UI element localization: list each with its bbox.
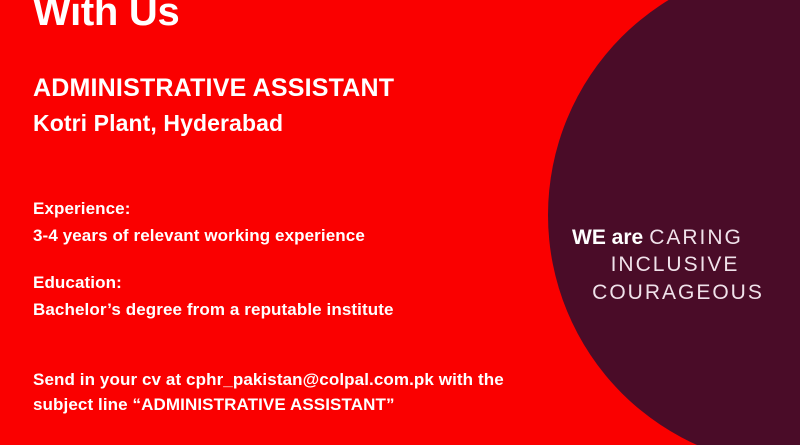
- values-line-caring: WE areCARING: [560, 224, 796, 251]
- apply-line-1: Send in your cv at cphr_pakistan@colpal.…: [33, 368, 593, 393]
- poster-content: With Us ADMINISTRATIVE ASSISTANT Kotri P…: [33, 0, 593, 417]
- values-line-inclusive: INCLUSIVE: [560, 251, 796, 278]
- education-value: Bachelor’s degree from a reputable insti…: [33, 300, 593, 320]
- value-caring: CARING: [649, 226, 743, 249]
- education-label: Education:: [33, 273, 593, 293]
- company-values-block: WE areCARING INCLUSIVE COURAGEOUS: [560, 224, 796, 306]
- experience-value: 3-4 years of relevant working experience: [33, 226, 593, 246]
- education-group: Education: Bachelor’s degree from a repu…: [33, 273, 593, 320]
- values-line-courageous: COURAGEOUS: [560, 279, 796, 306]
- apply-instructions: Send in your cv at cphr_pakistan@colpal.…: [33, 368, 593, 417]
- job-title: ADMINISTRATIVE ASSISTANT: [33, 74, 593, 103]
- apply-line-2: subject line “ADMINISTRATIVE ASSISTANT”: [33, 393, 593, 418]
- experience-label: Experience:: [33, 199, 593, 219]
- we-are-prefix: WE are: [572, 226, 649, 249]
- experience-group: Experience: 3-4 years of relevant workin…: [33, 199, 593, 246]
- headline-text: With Us: [33, 0, 593, 32]
- job-posting-poster: WE areCARING INCLUSIVE COURAGEOUS With U…: [0, 0, 800, 445]
- job-location: Kotri Plant, Hyderabad: [33, 110, 593, 137]
